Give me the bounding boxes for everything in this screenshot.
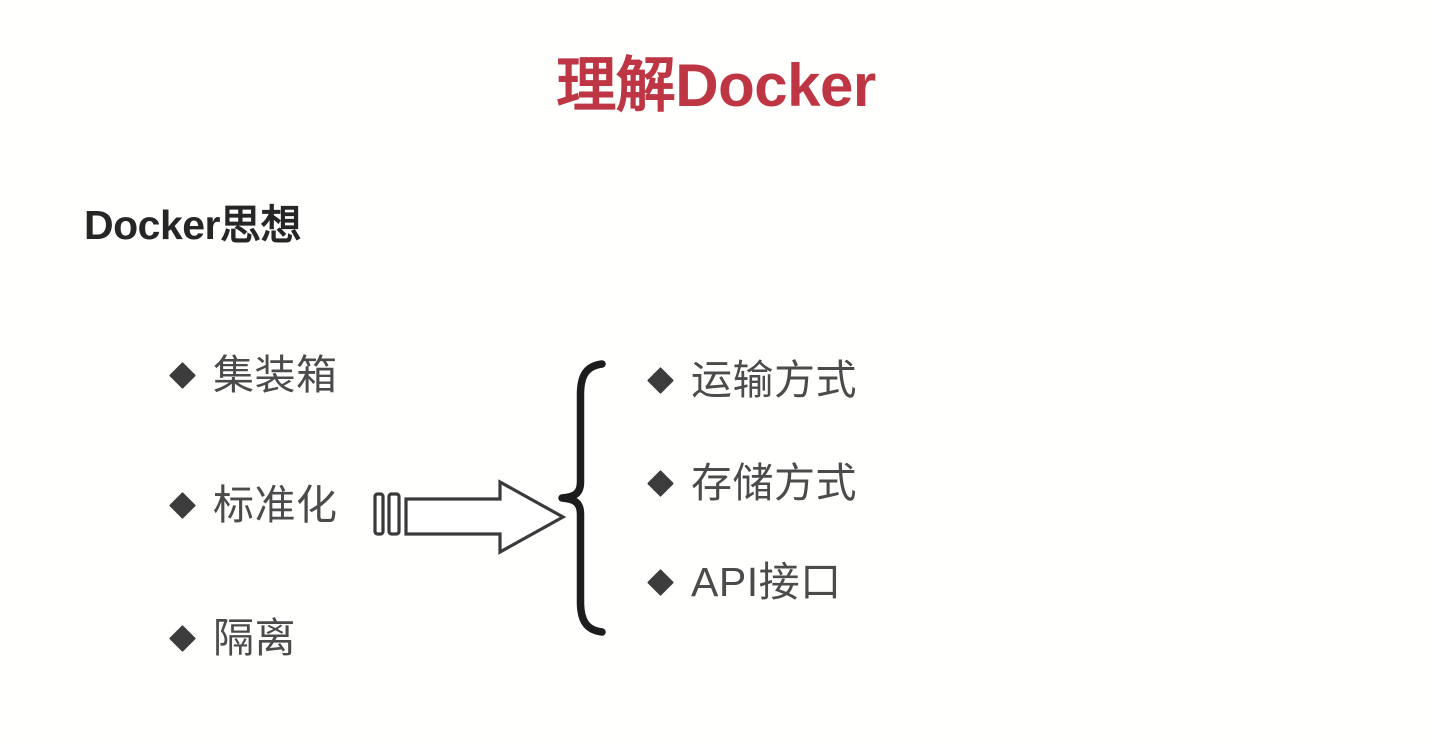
list-item: 集装箱: [165, 355, 338, 396]
list-item: 标准化: [165, 485, 338, 526]
section-heading: Docker思想: [84, 202, 301, 249]
list-item-label: API接口: [691, 562, 842, 603]
list-item: 隔离: [165, 618, 296, 659]
diamond-bullet-icon: [643, 566, 677, 600]
diamond-bullet-icon: [165, 359, 199, 393]
diamond-bullet-icon: [165, 489, 199, 523]
left-curly-brace-icon: [556, 358, 614, 638]
page-title: 理解Docker: [0, 54, 1432, 117]
diamond-bullet-icon: [643, 364, 677, 398]
list-item-label: 集装箱: [213, 355, 338, 396]
list-item-label: 存储方式: [691, 463, 857, 504]
slide-canvas: 理解Docker Docker思想 集装箱 标准化 隔离: [0, 0, 1432, 744]
list-item: 运输方式: [643, 360, 857, 401]
list-item-label: 运输方式: [691, 360, 857, 401]
diamond-bullet-icon: [165, 622, 199, 656]
list-item: 存储方式: [643, 463, 857, 504]
list-item-label: 隔离: [213, 618, 296, 659]
list-item: API接口: [643, 562, 842, 603]
diamond-bullet-icon: [643, 467, 677, 501]
list-item-label: 标准化: [213, 485, 338, 526]
right-arrow-outline-icon: [372, 478, 570, 556]
